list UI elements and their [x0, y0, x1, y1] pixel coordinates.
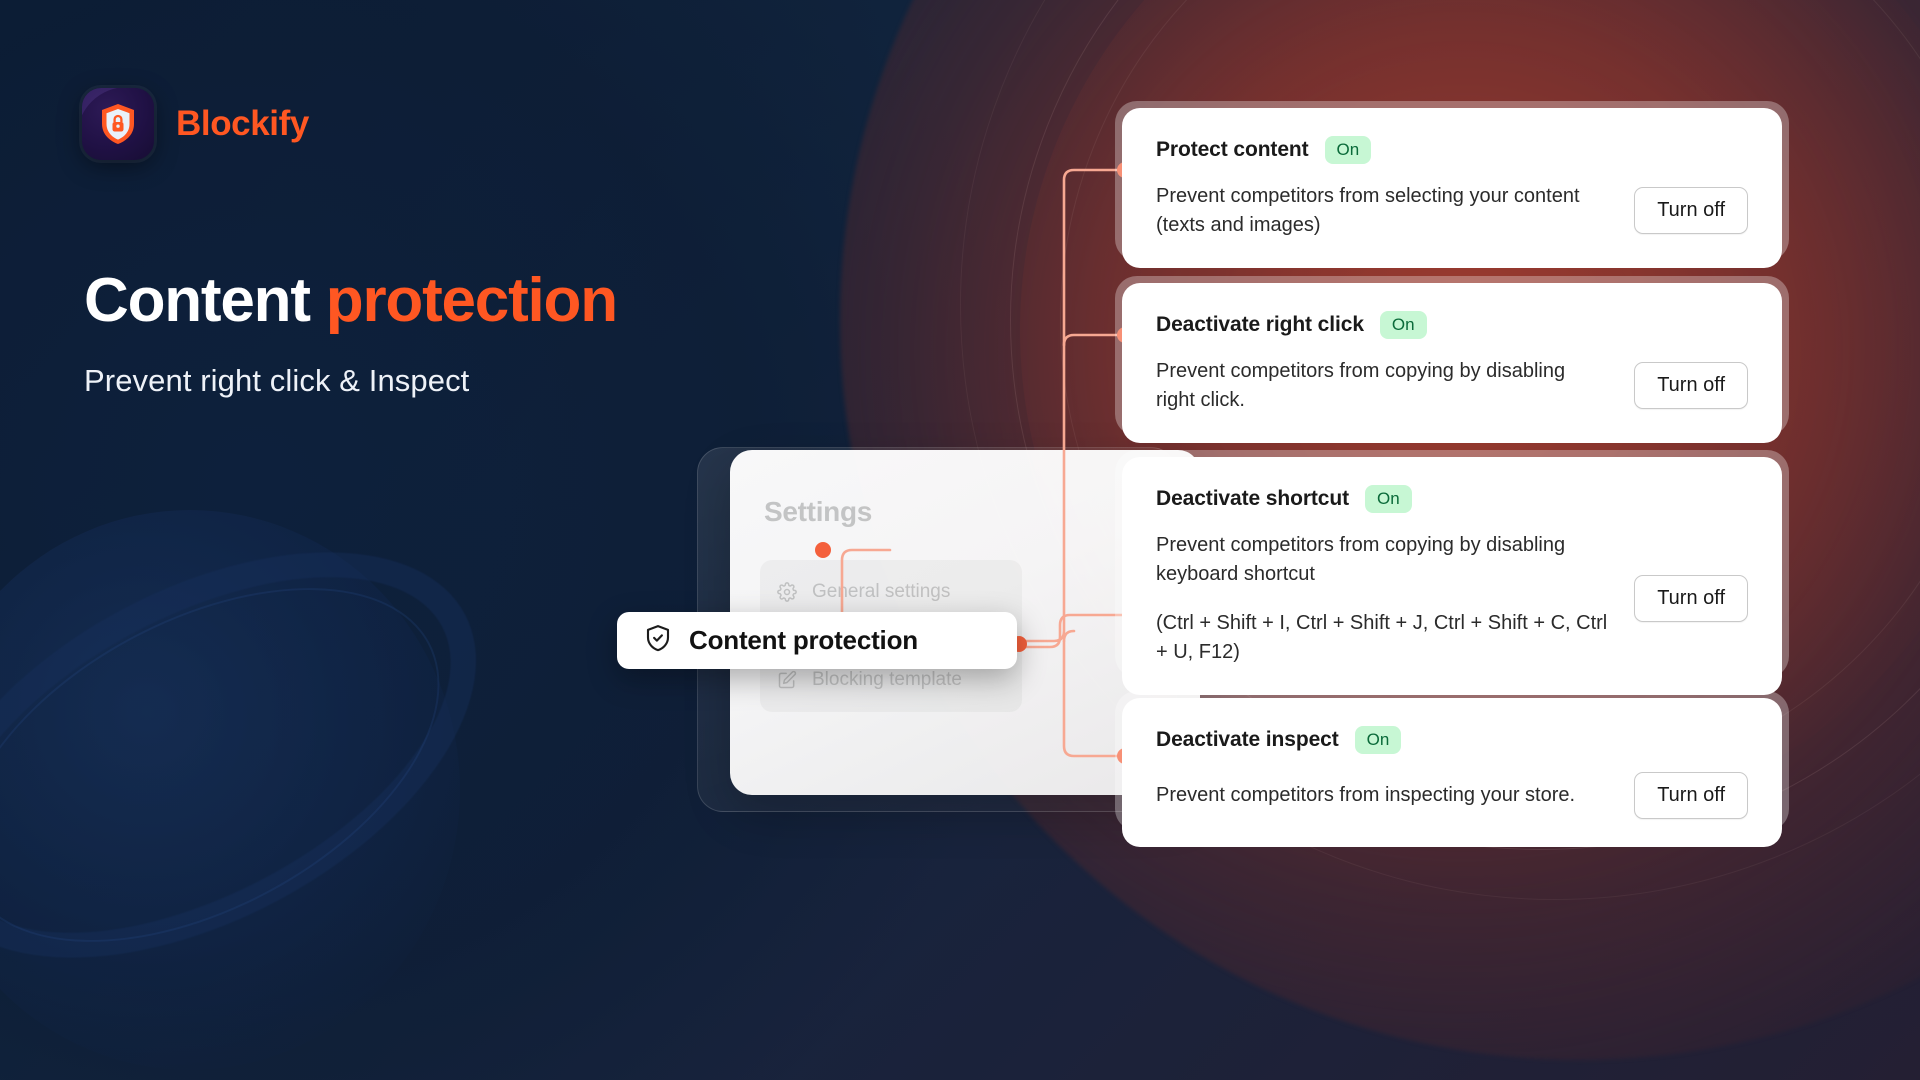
setting-card-protect-content: Protect content On Prevent competitors f… [1122, 108, 1782, 268]
card-description: Prevent competitors from selecting your … [1156, 182, 1608, 240]
setting-card-deactivate-inspect: Deactivate inspect On Prevent competitor… [1122, 698, 1782, 847]
card-description-line: Prevent competitors from selecting your … [1156, 182, 1608, 240]
card-header: Deactivate inspect On [1156, 726, 1748, 754]
card-description-line: Prevent competitors from copying by disa… [1156, 531, 1608, 589]
pill-label: Content protection [689, 625, 918, 656]
card-title: Deactivate right click [1156, 313, 1364, 337]
sidebar-item-general-settings[interactable]: General settings [760, 570, 1022, 614]
card-header: Protect content On [1156, 136, 1748, 164]
globe-decoration [0, 470, 520, 1080]
status-badge: On [1325, 136, 1372, 164]
card-title: Deactivate shortcut [1156, 487, 1349, 511]
status-badge: On [1380, 311, 1427, 339]
brand-name: Blockify [176, 104, 309, 144]
card-body: Prevent competitors from inspecting your… [1156, 772, 1748, 819]
sidebar-item-label: General settings [812, 581, 950, 603]
card-title: Protect content [1156, 138, 1309, 162]
setting-card-deactivate-shortcut: Deactivate shortcut On Prevent competito… [1122, 457, 1782, 695]
card-title: Deactivate inspect [1156, 728, 1339, 752]
shield-lock-icon [82, 88, 154, 160]
status-badge: On [1355, 726, 1402, 754]
card-header: Deactivate shortcut On [1156, 485, 1748, 513]
content-protection-highlight-pill[interactable]: Content protection [617, 612, 1017, 669]
page-title-plain: Content [84, 266, 326, 335]
page-subtitle: Prevent right click & Inspect [84, 360, 504, 402]
card-body: Prevent competitors from selecting your … [1156, 182, 1748, 240]
card-description: Prevent competitors from inspecting your… [1156, 781, 1575, 810]
card-description-line: Prevent competitors from inspecting your… [1156, 781, 1575, 810]
sidebar-item-label: Blocking template [812, 669, 962, 691]
card-body: Prevent competitors from copying by disa… [1156, 357, 1748, 415]
card-description: Prevent competitors from copying by disa… [1156, 357, 1608, 415]
shield-check-icon [643, 623, 673, 658]
card-description: Prevent competitors from copying by disa… [1156, 531, 1608, 667]
setting-card-deactivate-right-click: Deactivate right click On Prevent compet… [1122, 283, 1782, 443]
turn-off-button[interactable]: Turn off [1634, 575, 1748, 622]
gear-icon [776, 581, 798, 603]
page-title-accent: protection [326, 266, 617, 335]
card-description-line: (Ctrl + Shift + I, Ctrl + Shift + J, Ctr… [1156, 609, 1608, 667]
edit-square-icon [776, 669, 798, 691]
page-title: Content protection [84, 268, 617, 335]
card-body: Prevent competitors from copying by disa… [1156, 531, 1748, 667]
turn-off-button[interactable]: Turn off [1634, 362, 1748, 409]
promo-banner: Blockify Content protection Prevent righ… [0, 0, 1920, 1080]
settings-panel-title: Settings [764, 496, 872, 528]
card-header: Deactivate right click On [1156, 311, 1748, 339]
status-badge: On [1365, 485, 1412, 513]
turn-off-button[interactable]: Turn off [1634, 772, 1748, 819]
card-description-line: Prevent competitors from copying by disa… [1156, 357, 1608, 415]
brand-logo: Blockify [82, 88, 309, 160]
turn-off-button[interactable]: Turn off [1634, 187, 1748, 234]
